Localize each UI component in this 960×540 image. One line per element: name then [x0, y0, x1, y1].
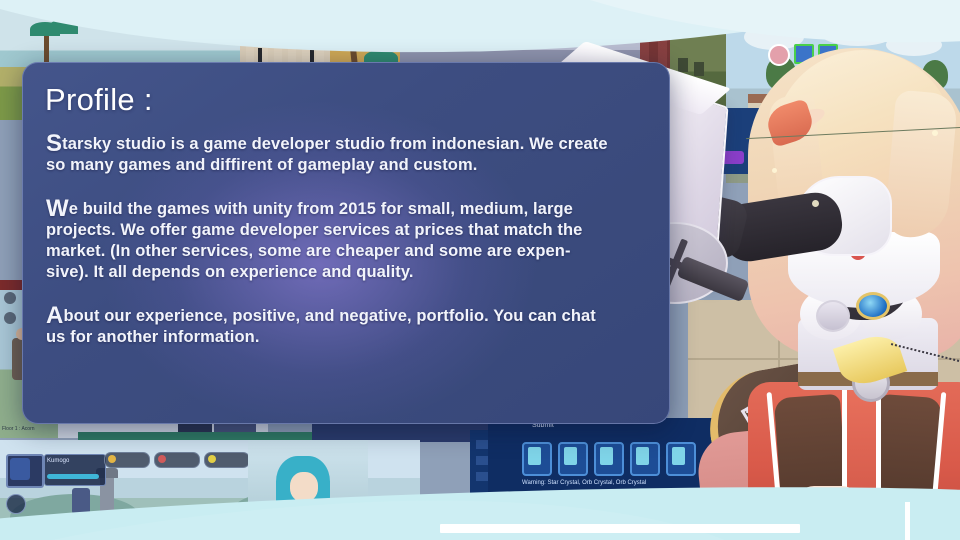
paragraph-3: About our experience, positive, and nega… — [46, 306, 612, 348]
profile-body: Starsky studio is a game developer studi… — [46, 134, 612, 348]
dropcap-2: W — [46, 195, 69, 222]
footer-accent-bar — [440, 524, 800, 533]
paragraph-2-text: e build the games with unity from 2015 f… — [46, 200, 582, 281]
paragraph-2: We build the games with unity from 2015 … — [46, 199, 612, 283]
dropcap-1: S — [46, 130, 62, 157]
paragraph-1: Starsky studio is a game developer studi… — [46, 134, 612, 176]
paragraph-3-text: bout our experience, positive, and negat… — [46, 307, 596, 346]
paragraph-1-text: tarsky studio is a game developer studio… — [46, 135, 608, 174]
dropcap-3: A — [46, 302, 63, 329]
profile-panel: Profile : Starsky studio is a game devel… — [22, 62, 670, 424]
footer-divider-line — [905, 502, 910, 540]
sparkle-2 — [932, 130, 938, 136]
tower-player-name: Kumogo — [47, 458, 69, 464]
sparkle-1 — [812, 200, 819, 207]
bell-ornament — [816, 300, 850, 332]
charsheet-label: Floor 1 : Acorn — [2, 426, 35, 432]
slide-canvas: Dylody On Mouah ld Online — [0, 0, 960, 540]
page-title: Profile : — [45, 82, 153, 118]
gem-brooch — [856, 292, 890, 320]
sparkle-3 — [772, 168, 777, 173]
